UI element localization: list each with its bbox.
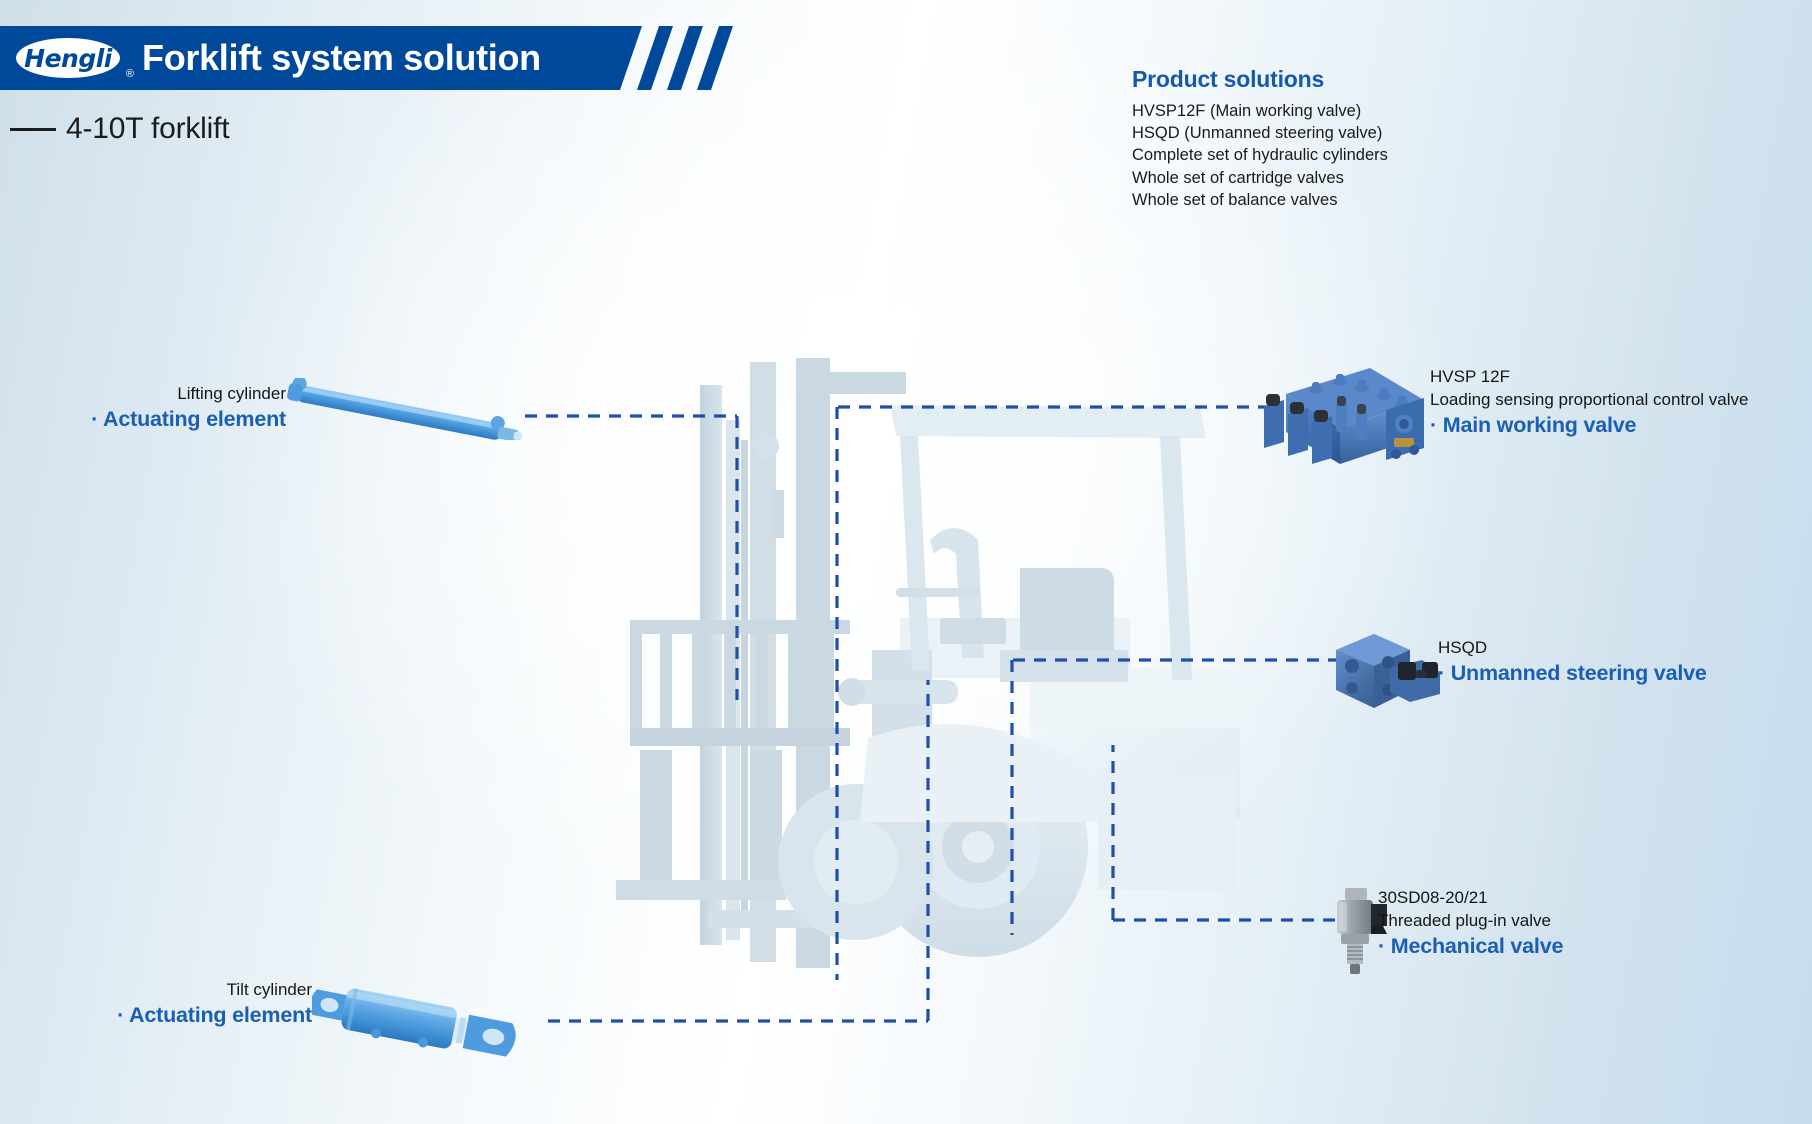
hvsp12f-description: Loading sensing proportional control val… bbox=[1430, 388, 1748, 411]
product-solutions-item: Whole set of balance valves bbox=[1132, 189, 1388, 211]
callout-mechanical-valve: 30SD08-20/21 Threaded plug-in valve · Me… bbox=[1378, 886, 1563, 961]
mechanical-valve-code: 30SD08-20/21 bbox=[1378, 886, 1563, 909]
subtitle-dash-icon bbox=[10, 128, 56, 131]
hsqd-category: · Unmanned steering valve bbox=[1438, 659, 1707, 688]
subtitle: 4-10T forklift bbox=[10, 112, 229, 146]
callout-lifting-cylinder: Lifting cylinder · Actuating element bbox=[0, 382, 286, 434]
product-solutions-item: Complete set of hydraulic cylinders bbox=[1132, 144, 1388, 166]
banner-slashes-decoration bbox=[640, 26, 760, 90]
header-banner: Hengli ® Forklift system solution bbox=[0, 26, 760, 90]
callout-main-working-valve: HVSP 12F Loading sensing proportional co… bbox=[1430, 365, 1748, 440]
product-solutions-block: Product solutions HVSP12F (Main working … bbox=[1132, 66, 1388, 211]
forklift-illustration bbox=[600, 350, 1240, 990]
product-solutions-item: Whole set of cartridge valves bbox=[1132, 167, 1388, 189]
callout-steering-valve: HSQD · Unmanned steering valve bbox=[1438, 636, 1707, 688]
tilt-cylinder-name: Tilt cylinder bbox=[0, 978, 312, 1001]
callout-tilt-cylinder: Tilt cylinder · Actuating element bbox=[0, 978, 312, 1030]
subtitle-text: 4-10T forklift bbox=[66, 112, 229, 146]
lifting-cylinder-category: · Actuating element bbox=[0, 405, 286, 434]
hsqd-code: HSQD bbox=[1438, 636, 1707, 659]
hvsp12f-code: HVSP 12F bbox=[1430, 365, 1748, 388]
lifting-cylinder-name: Lifting cylinder bbox=[0, 382, 286, 405]
tilt-cylinder-image bbox=[312, 972, 552, 1058]
product-solutions-item: HVSP12F (Main working valve) bbox=[1132, 100, 1388, 122]
logo-text: Hengli bbox=[24, 44, 112, 73]
product-solutions-title: Product solutions bbox=[1132, 66, 1388, 93]
hengli-logo: Hengli ® bbox=[16, 38, 120, 78]
product-solutions-item: HSQD (Unmanned steering valve) bbox=[1132, 122, 1388, 144]
mechanical-valve-category: · Mechanical valve bbox=[1378, 932, 1563, 961]
banner-bar: Hengli ® Forklift system solution bbox=[0, 26, 642, 90]
slash-icon-1 bbox=[637, 26, 673, 90]
registered-mark-icon: ® bbox=[126, 68, 134, 80]
slash-icon-2 bbox=[667, 26, 703, 90]
page-title: Forklift system solution bbox=[142, 37, 541, 79]
hvsp12f-category: · Main working valve bbox=[1430, 411, 1748, 440]
slash-icon-3 bbox=[697, 26, 733, 90]
hsqd-valve-image bbox=[1330, 628, 1446, 714]
mechanical-valve-description: Threaded plug-in valve bbox=[1378, 909, 1563, 932]
tilt-cylinder-category: · Actuating element bbox=[0, 1001, 312, 1030]
lifting-cylinder-image bbox=[286, 378, 526, 440]
hvsp12f-valve-image bbox=[1258, 358, 1428, 480]
